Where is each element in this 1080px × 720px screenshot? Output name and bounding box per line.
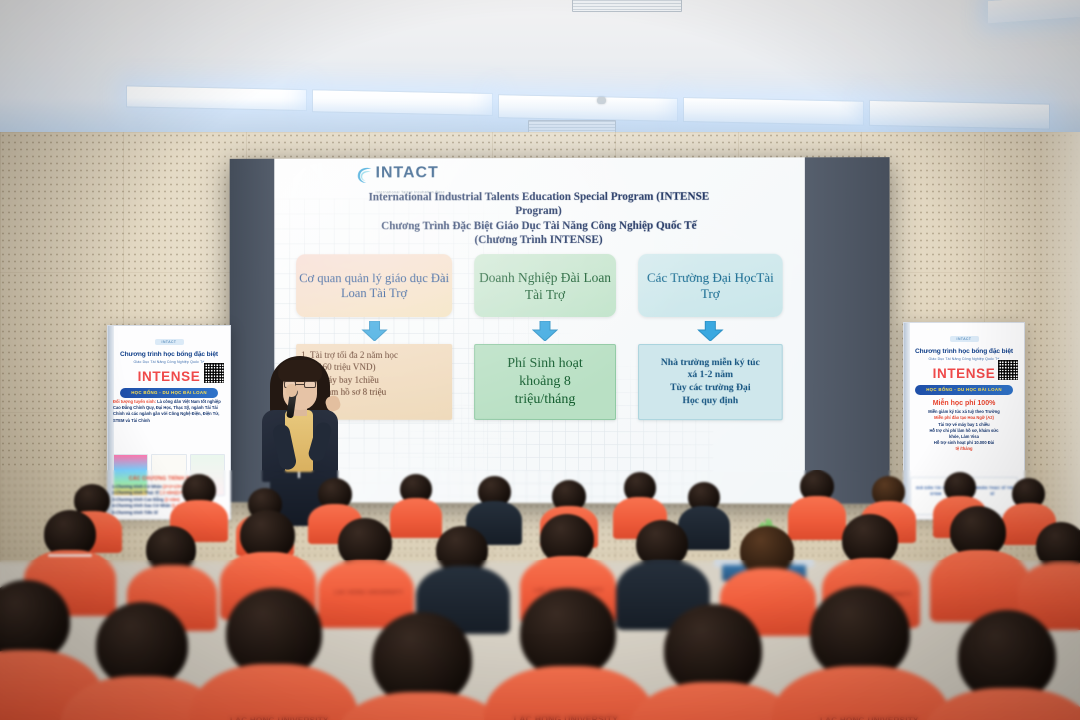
led-panel	[312, 89, 493, 116]
presentation-slide: INTACT International Talent Incubation B…	[274, 157, 805, 503]
standee-right-headline: Miễn học phí 100%	[909, 401, 1019, 407]
slide-detail-dorm: Nhà trường miễn ký túc xá 1-2 năm Tùy cá…	[638, 344, 783, 420]
standee-right-heading: Chương trình học bổng đặc biệt	[904, 348, 1024, 355]
qr-code-icon	[997, 359, 1019, 381]
detail-living-line-2: khoảng 8	[507, 373, 582, 391]
led-panel-corner	[988, 0, 1080, 23]
slide-box-university: Các Trường Đại HọcTài Trợ	[638, 254, 783, 317]
standee-left-body-label: Đối tượng tuyển sinh:	[113, 399, 156, 404]
detail-dorm-line-2: xá 1-2 năm	[661, 369, 760, 382]
audience: LAC HONG UNIVERSITY LAC HONG UNIVERSITY …	[0, 470, 1080, 720]
slide-title-line-2: Program)	[292, 204, 787, 219]
detail-dorm-line-3: Tùy các trường Đại	[661, 382, 760, 395]
smoke-detector-icon	[597, 97, 606, 104]
led-panel	[683, 97, 864, 126]
slide-title-line-3: Chương Trình Đặc Biệt Giáo Dục Tài Năng …	[292, 219, 787, 234]
led-panel	[869, 100, 1050, 130]
slide-arrow-row	[296, 321, 783, 341]
slide-title-line-1: International Industrial Talents Educati…	[292, 190, 787, 205]
detail-living-line-1: Phí Sinh hoạt	[507, 355, 582, 373]
logo-wordmark: INTACT	[376, 164, 439, 181]
detail-dorm-line-1: Nhà trường miễn ký túc	[661, 357, 760, 370]
screenshot-root: INTACT International Talent Incubation B…	[0, 0, 1080, 720]
standee-right-chip: INTACT	[950, 336, 979, 342]
arrow-down-icon	[361, 321, 387, 341]
arrow-down-icon	[532, 321, 558, 341]
standee-right-body: Miễn học phí 100% Miễn giảm ký túc xá tu…	[909, 401, 1019, 453]
air-vent-icon	[572, 0, 682, 12]
arrow-slot-3	[638, 321, 783, 341]
shirt-logo-text: LAC HONG UNIVERSITY	[512, 714, 620, 720]
slide-title: International Industrial Talents Educati…	[292, 190, 787, 248]
slide-box-agency: Cơ quan quản lý giáo dục Đài Loan Tài Tr…	[296, 254, 452, 317]
qr-code-icon	[203, 362, 225, 384]
wave-swoosh-icon	[356, 165, 374, 185]
ceiling	[0, 0, 1080, 138]
slide-box-enterprise: Doanh Nghiệp Đài Loan Tài Trợ	[474, 254, 616, 317]
led-panel	[498, 94, 679, 122]
presenter-fringe	[278, 360, 322, 382]
shirt-logo-text: LAC HONG UNIVERSITY	[820, 716, 916, 720]
standee-left-pill: HỌC BỔNG - DU HỌC ĐÀI LOAN	[120, 388, 218, 398]
arrow-slot-1	[296, 321, 452, 341]
standee-right-line-7: tệ /tháng	[909, 446, 1019, 452]
led-panel	[126, 85, 307, 111]
screen-dark-band-right	[805, 157, 890, 504]
slide-detail-box-row: 1. Tài trợ tối đa 2 năm học phí (160 tri…	[296, 344, 783, 420]
slide-title-line-4: (Chương Trình INTENSE)	[292, 233, 787, 248]
detail-dorm-line-4: Học quy định	[661, 395, 760, 408]
slide-detail-living: Phí Sinh hoạt khoảng 8 triệu/tháng	[474, 344, 616, 420]
standee-left-body: Đối tượng tuyển sinh: Là công dân Việt N…	[113, 399, 225, 424]
standee-left-heading: Chương trình học bổng đặc biệt	[108, 351, 230, 358]
arrow-down-icon	[697, 321, 723, 341]
standee-left-chip: INTACT	[155, 339, 184, 345]
arrow-slot-2	[474, 321, 616, 341]
slide-top-box-row: Cơ quan quản lý giáo dục Đài Loan Tài Tr…	[296, 254, 783, 317]
presenter-hand-left	[286, 384, 297, 397]
shirt-logo-text: LAC HONG UNIVERSITY	[334, 590, 398, 596]
shirt-logo-text: LAC HONG UNIVERSITY	[230, 716, 322, 720]
standee-right-pill: HỌC BỔNG - DU HỌC ĐÀI LOAN	[915, 385, 1013, 395]
ceiling-light-row	[126, 82, 1050, 127]
detail-living-line-3: triệu/tháng	[507, 391, 582, 409]
